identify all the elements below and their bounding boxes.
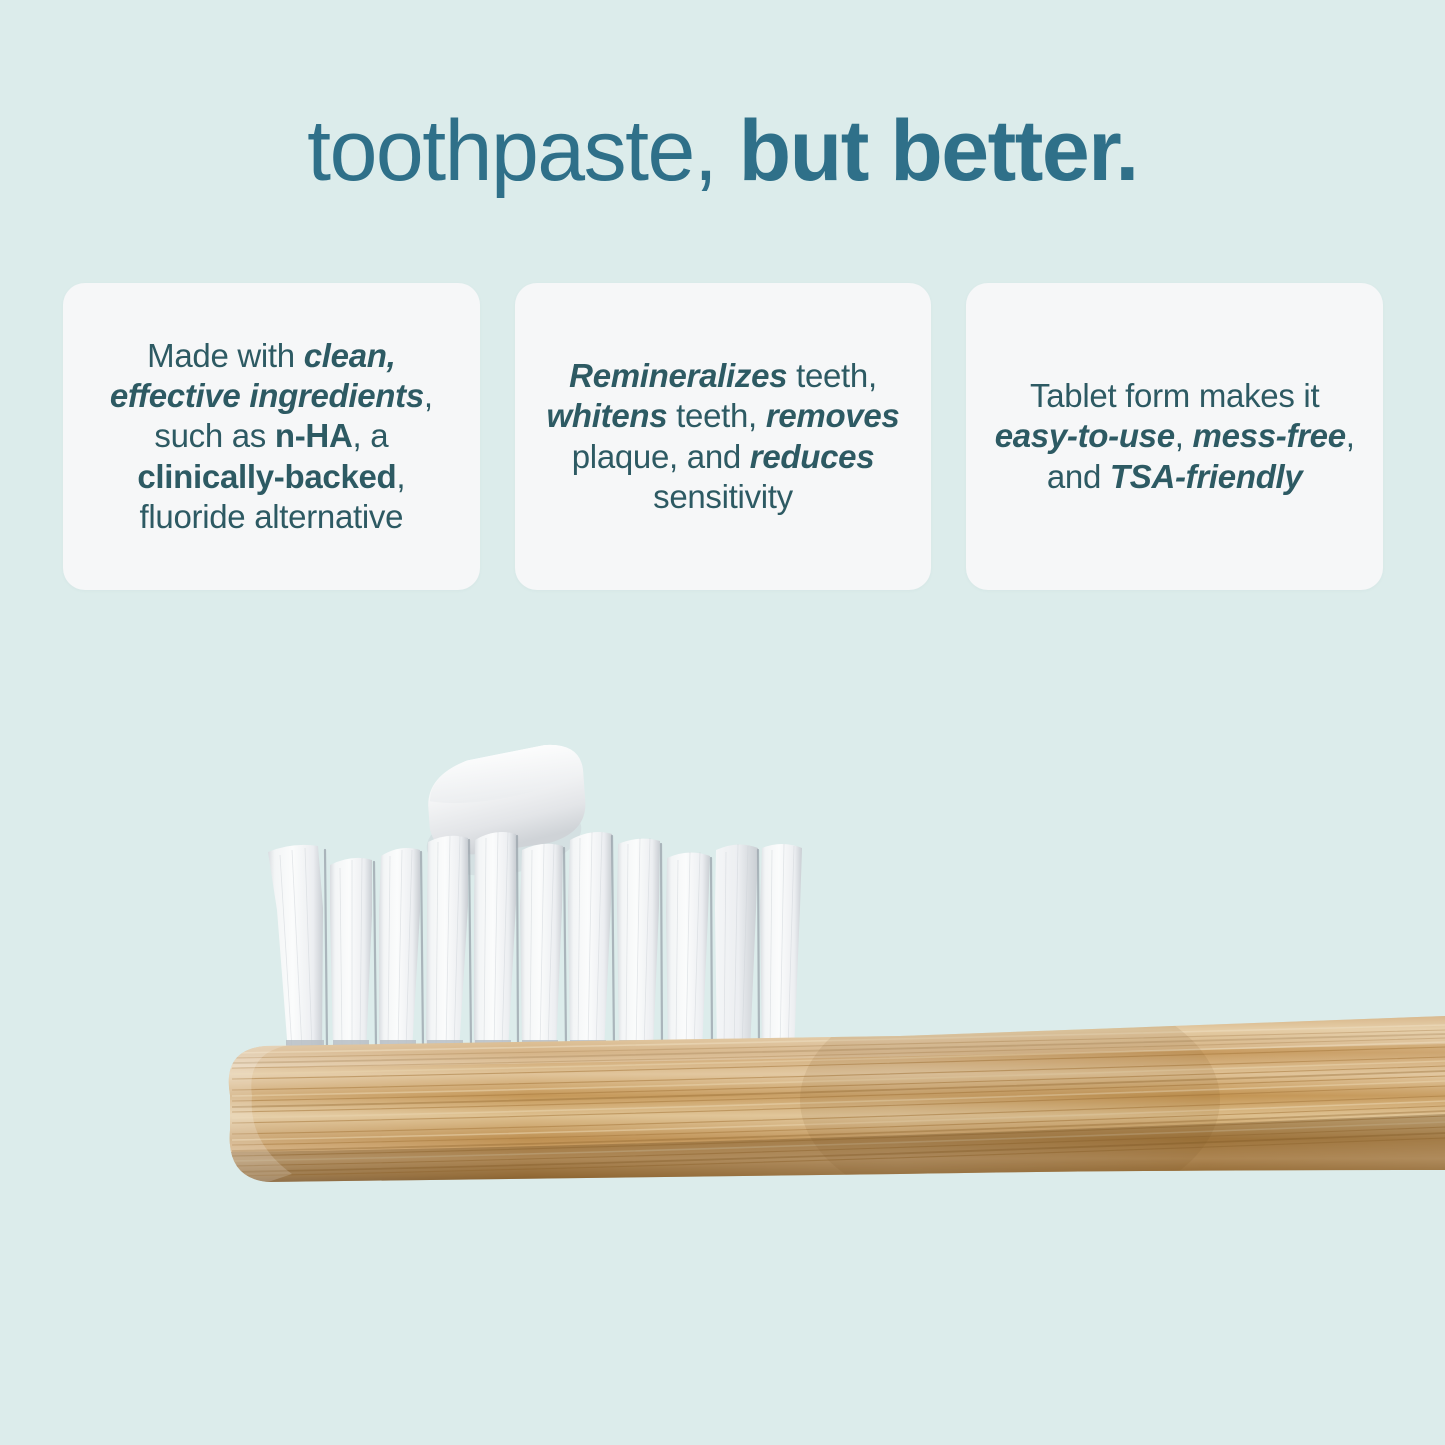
seg: Made with xyxy=(147,337,304,374)
toothbrush-illustration xyxy=(0,700,1445,1300)
seg-emphasis: easy-to-use xyxy=(995,417,1175,454)
headline-bold-text: but better. xyxy=(716,103,1138,199)
ingredients-card-text: Made with clean, effective ingredients, … xyxy=(81,336,462,537)
seg-emphasis: removes xyxy=(766,397,900,434)
format-card-text: Tablet form makes it easy-to-use, mess-f… xyxy=(984,376,1365,497)
feature-card-row: Made with clean, effective ingredients, … xyxy=(63,283,1383,590)
seg: , a xyxy=(353,417,389,454)
seg-emphasis: clinically-backed xyxy=(137,458,396,495)
page-title: toothpaste, but better. xyxy=(0,108,1445,194)
seg: plaque, and xyxy=(572,438,750,475)
seg: teeth, xyxy=(787,357,877,394)
seg: , xyxy=(1175,417,1193,454)
format-card: Tablet form makes it easy-to-use, mess-f… xyxy=(966,283,1383,590)
seg: sensitivity xyxy=(653,478,793,515)
benefits-card-text: Remineralizes teeth, whitens teeth, remo… xyxy=(533,356,914,517)
seg-emphasis: whitens xyxy=(547,397,668,434)
ingredients-card: Made with clean, effective ingredients, … xyxy=(63,283,480,590)
toothbrush-svg xyxy=(0,700,1445,1300)
seg: teeth, xyxy=(667,397,766,434)
seg-emphasis: TSA-friendly xyxy=(1110,458,1303,495)
seg: Tablet form makes it xyxy=(1030,377,1319,414)
seg-emphasis: n-HA xyxy=(275,417,353,454)
seg-emphasis: reduces xyxy=(750,438,874,475)
headline-light-text: toothpaste, xyxy=(307,103,716,199)
seg-emphasis: Remineralizes xyxy=(569,357,787,394)
seg-emphasis: mess-free xyxy=(1193,417,1346,454)
benefits-card: Remineralizes teeth, whitens teeth, remo… xyxy=(515,283,932,590)
